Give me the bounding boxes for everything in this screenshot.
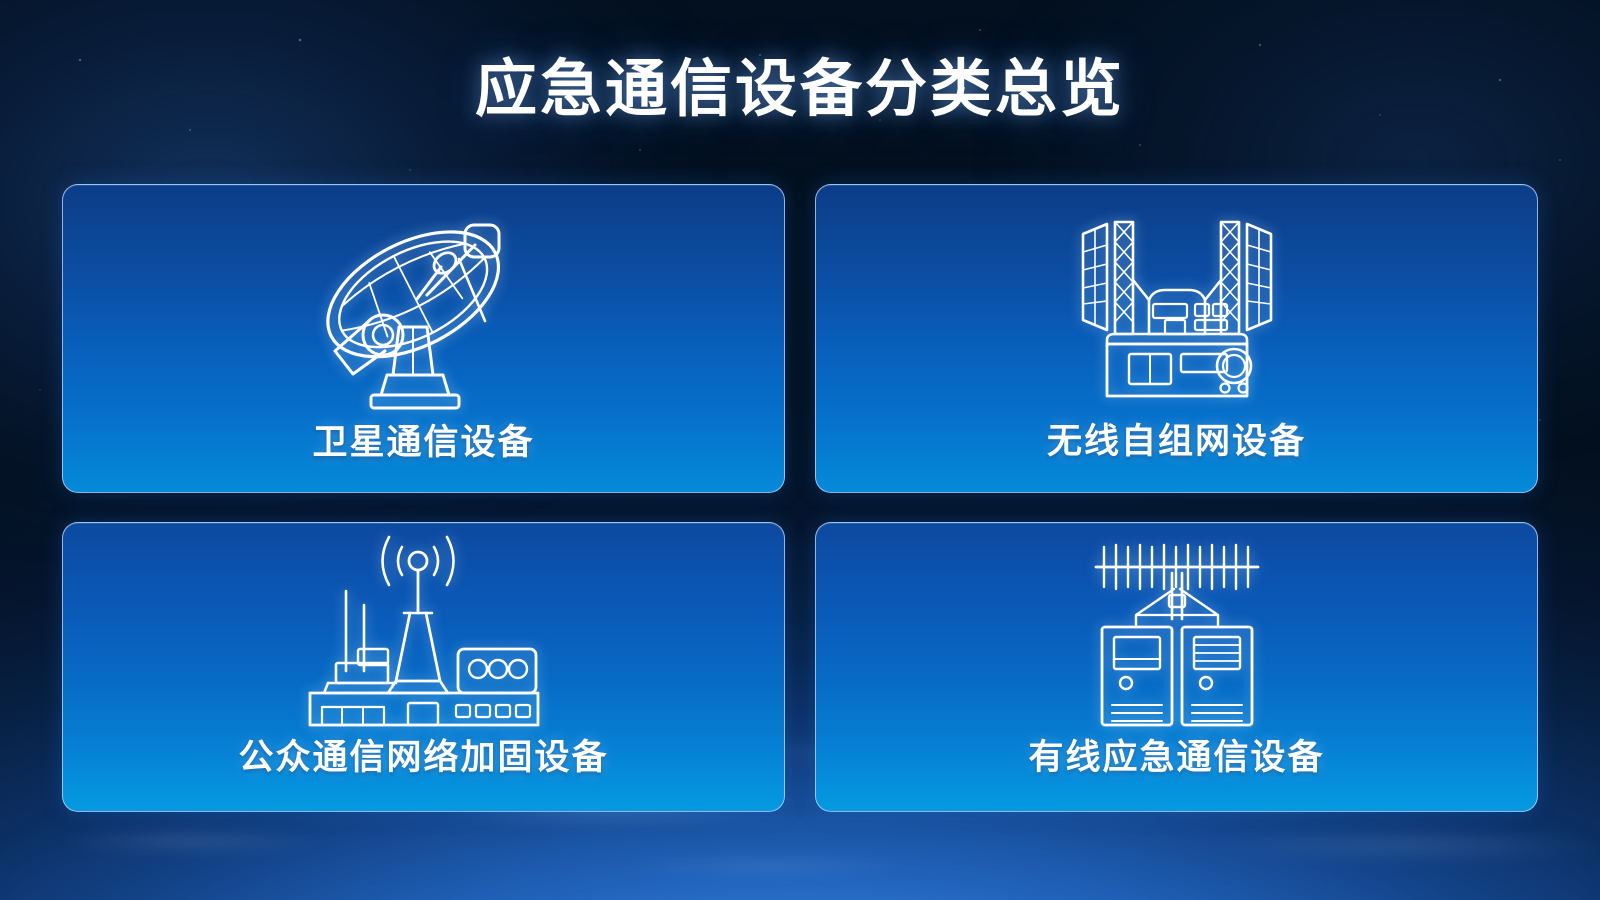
mesh-network-node-icon	[816, 185, 1537, 413]
category-card-label: 无线自组网设备	[1047, 413, 1306, 492]
category-card-label: 有线应急通信设备	[1028, 729, 1324, 812]
category-card-public-network[interactable]: 公众通信网络加固设备	[62, 522, 785, 812]
category-card-grid: 卫星通信设备	[62, 184, 1538, 812]
equipment-cabinet-yagi-icon	[816, 523, 1537, 729]
page-title: 应急通信设备分类总览	[0, 55, 1600, 124]
category-card-mesh-network[interactable]: 无线自组网设备	[815, 184, 1538, 493]
category-card-satellite[interactable]: 卫星通信设备	[62, 184, 785, 493]
category-card-wired-emergency[interactable]: 有线应急通信设备	[815, 522, 1538, 812]
category-card-label: 公众通信网络加固设备	[238, 729, 608, 812]
cell-tower-basestation-icon	[63, 523, 784, 729]
category-card-label: 卫星通信设备	[312, 414, 534, 493]
slide-root: 应急通信设备分类总览	[0, 0, 1600, 900]
satellite-dish-icon	[63, 185, 784, 414]
